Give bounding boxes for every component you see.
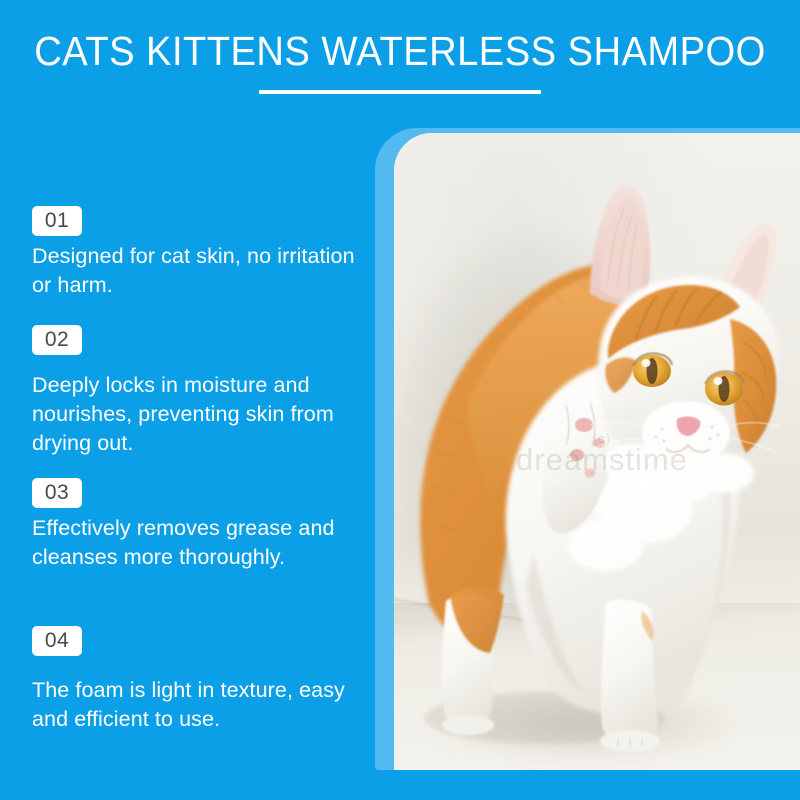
- feature-item-01: 01 Designed for cat skin, no irritation …: [32, 206, 372, 300]
- page-title: CATS KITTENS WATERLESS SHAMPOO: [28, 28, 772, 74]
- feature-number-badge: 02: [32, 325, 82, 355]
- cat-illustration: [394, 133, 800, 770]
- feature-number-badge: 03: [32, 478, 82, 508]
- product-poster: CATS KITTENS WATERLESS SHAMPOO 01 Design…: [0, 0, 800, 800]
- feature-description: The foam is light in texture, easy and e…: [32, 676, 372, 734]
- feature-item-02: 02 Deeply locks in moisture and nourishe…: [32, 325, 372, 458]
- feature-description: Designed for cat skin, no irritation or …: [32, 242, 372, 300]
- feature-number-badge: 01: [32, 206, 82, 236]
- feature-number-badge: 04: [32, 626, 82, 656]
- feature-item-03: 03 Effectively removes grease and cleans…: [32, 478, 372, 572]
- product-photo: (c) dreamstime: [394, 133, 800, 770]
- title-divider: [259, 90, 541, 94]
- feature-item-04: 04 The foam is light in texture, easy an…: [32, 626, 372, 734]
- feature-description: Deeply locks in moisture and nourishes, …: [32, 371, 372, 458]
- title-block: CATS KITTENS WATERLESS SHAMPOO: [0, 28, 800, 94]
- feature-description: Effectively removes grease and cleanses …: [32, 514, 372, 572]
